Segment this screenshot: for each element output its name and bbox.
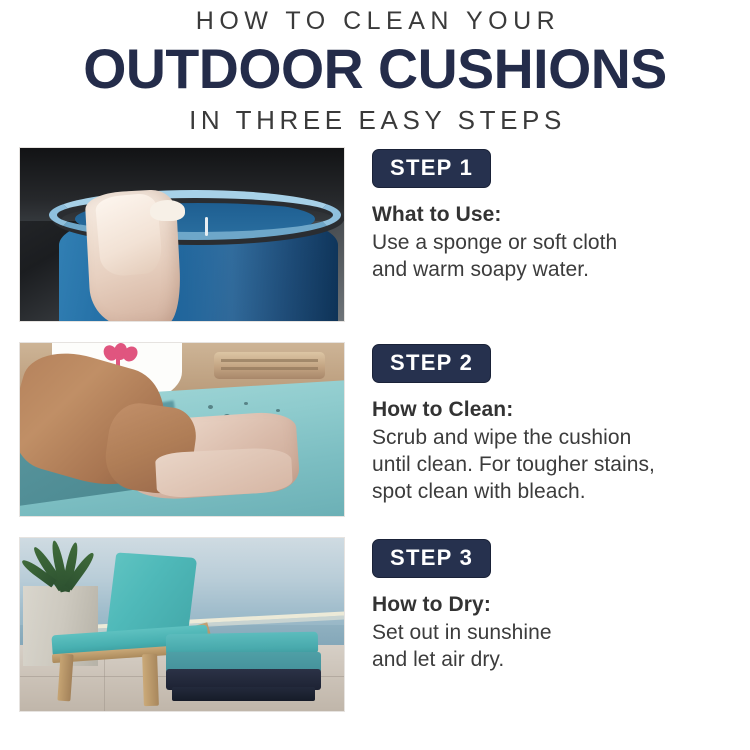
page-title: OUTDOOR CUSHIONS: [4, 38, 747, 100]
header-subtitle: IN THREE EASY STEPS: [0, 104, 750, 136]
water-droplet: [276, 409, 280, 412]
step-text-column: STEP 1 What to Use: Use a sponge or soft…: [345, 147, 750, 283]
header-kicker: HOW TO CLEAN YOUR: [0, 6, 750, 36]
steps-list: STEP 1 What to Use: Use a sponge or soft…: [0, 147, 750, 712]
cleaning-rag-fold: [155, 447, 293, 499]
chair-leg: [142, 654, 158, 706]
step-heading: How to Dry:: [372, 592, 750, 618]
hand-wiping-cushion-photo: [19, 342, 345, 517]
stack-seam: [221, 367, 318, 370]
step-heading: How to Clean:: [372, 397, 750, 423]
lounge-chair-drying-photo: [19, 537, 345, 712]
step-text-column: STEP 2 How to Clean: Scrub and wipe the …: [345, 342, 750, 505]
bucket-rim-clip: [205, 217, 208, 236]
step-row: STEP 2 How to Clean: Scrub and wipe the …: [0, 342, 750, 517]
step-body-text: Set out in sunshine and let air dry.: [372, 619, 750, 673]
water-droplet: [244, 402, 248, 405]
step-body-text: Use a sponge or soft cloth and warm soap…: [372, 229, 750, 283]
header: HOW TO CLEAN YOUR OUTDOOR CUSHIONS IN TH…: [0, 0, 750, 136]
infographic-outdoor-cushion-cleaning: HOW TO CLEAN YOUR OUTDOOR CUSHIONS IN TH…: [0, 0, 750, 750]
step-badge: STEP 3: [372, 539, 491, 578]
agave-plant: [26, 540, 97, 592]
cloth-fold-tip: [150, 200, 186, 221]
step-row: STEP 3 How to Dry: Set out in sunshine a…: [0, 537, 750, 712]
step-heading: What to Use:: [372, 202, 750, 228]
stacked-cushion-bottom: [172, 687, 315, 701]
background-cushion-stack: [214, 352, 324, 380]
step-text-column: STEP 3 How to Dry: Set out in sunshine a…: [345, 537, 750, 673]
step-badge: STEP 2: [372, 344, 491, 383]
step-row: STEP 1 What to Use: Use a sponge or soft…: [0, 147, 750, 322]
stack-seam: [221, 359, 318, 362]
step-badge: STEP 1: [372, 149, 491, 188]
bucket-with-cloth-photo: [19, 147, 345, 322]
step-body-text: Scrub and wipe the cushion until clean. …: [372, 424, 750, 505]
